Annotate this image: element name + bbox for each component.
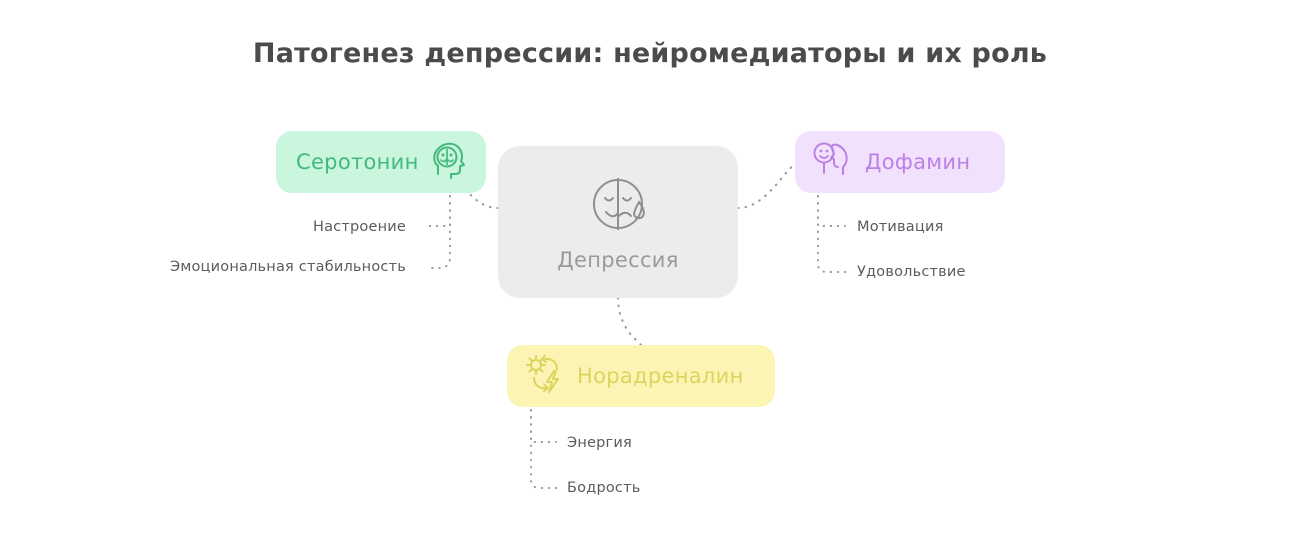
node-noradrenaline-label: Норадреналин [577, 364, 744, 388]
sub-label-serotonin-stability: Эмоциональная стабильность [170, 259, 406, 275]
node-serotonin-label: Серотонин [296, 150, 419, 174]
connector-serotonin-stability [426, 196, 450, 268]
node-depression-label: Депрессия [557, 248, 678, 272]
sub-label-serotonin-mood: Настроение [313, 219, 406, 235]
node-depression[interactable]: Депрессия [498, 146, 738, 298]
smiley-head-profile-icon [811, 140, 851, 184]
connector-serotonin-mood [429, 196, 450, 226]
sub-label-dopamine-motivation: Мотивация [857, 219, 944, 235]
sub-label-dopamine-pleasure: Удовольствие [857, 264, 966, 280]
node-serotonin[interactable]: Серотонин [276, 131, 486, 193]
connector-center-noradrenaline [618, 298, 648, 351]
sub-label-noradrenaline-vigor: Бодрость [567, 480, 640, 496]
split-face-tear-icon [582, 172, 654, 240]
connector-dopamine-pleasure [818, 196, 846, 272]
head-brain-face-icon [430, 140, 468, 184]
node-dopamine-label: Дофамин [865, 150, 970, 174]
sun-cycle-lightning-icon [523, 353, 565, 399]
connector-dopamine-motivation [818, 196, 845, 226]
connector-noradrenaline-vigor [531, 410, 557, 488]
node-noradrenaline[interactable]: Норадреналин [507, 345, 775, 407]
page-title: Патогенез депрессии: нейромедиаторы и их… [0, 38, 1300, 69]
diagram-canvas: Патогенез депрессии: нейромедиаторы и их… [0, 0, 1300, 546]
connector-noradrenaline-energy [531, 410, 556, 442]
sub-label-noradrenaline-energy: Энергия [567, 435, 632, 451]
node-dopamine[interactable]: Дофамин [795, 131, 1005, 193]
connector-center-dopamine [738, 163, 796, 208]
